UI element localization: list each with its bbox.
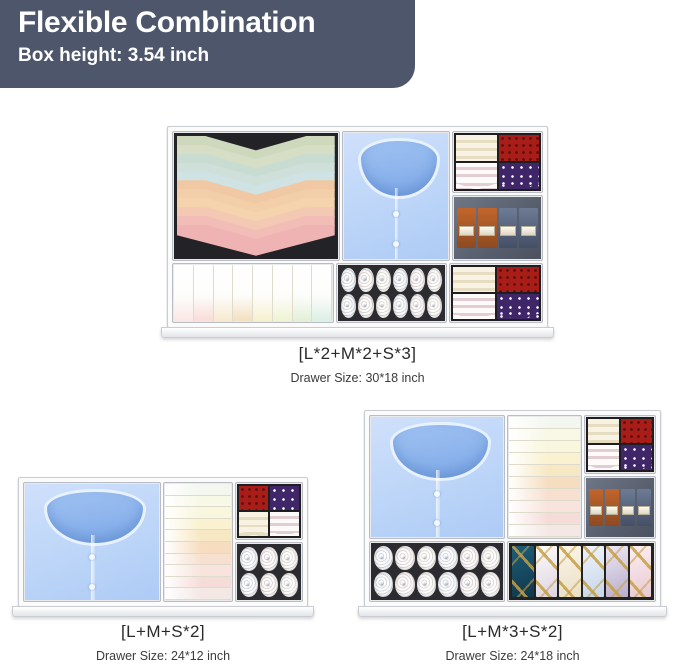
- rolled-sock: [395, 572, 414, 597]
- shirt-button: [393, 241, 399, 247]
- rolled-sock: [358, 268, 373, 292]
- rolled-sock: [417, 546, 436, 571]
- rolled-sock: [374, 572, 393, 597]
- silk-scarf: [630, 546, 651, 597]
- silk-scarf: [536, 546, 557, 597]
- compartment-rolled-socks: [337, 264, 446, 322]
- rolled-sock: [410, 268, 425, 292]
- folded-garment: [165, 554, 232, 566]
- folded-garment: [174, 265, 194, 321]
- folded-garment: [509, 513, 579, 525]
- tie-red-dotted: [497, 267, 539, 292]
- silk-scarf: [606, 546, 627, 597]
- compartment-rolled-socks: [370, 542, 504, 601]
- tie-cream-striped: [453, 267, 495, 292]
- rolled-sock: [374, 546, 393, 571]
- folded-garment: [214, 265, 234, 321]
- shirt-placket: [91, 535, 95, 600]
- folded-garment: [253, 265, 273, 321]
- rolled-sock: [427, 268, 442, 292]
- shirt-placket: [436, 470, 440, 537]
- shirt-button: [89, 554, 95, 560]
- header-banner: Flexible Combination Box height: 3.54 in…: [0, 0, 415, 88]
- compartment-ties: [450, 264, 542, 322]
- drawer-size: Drawer Size: 24*18 inch: [364, 649, 661, 663]
- rolled-sock: [376, 294, 391, 318]
- rolled-sock: [481, 572, 500, 597]
- tie-white-striped: [270, 512, 299, 536]
- rolled-sock: [280, 547, 298, 571]
- shirt-button: [89, 584, 95, 590]
- rolled-sock: [393, 268, 408, 292]
- folded-garment: [509, 441, 579, 453]
- drawer-bottom-right: [364, 410, 661, 617]
- belt-brown: [589, 489, 603, 527]
- folded-garment: [293, 265, 313, 321]
- folded-garment: [509, 453, 579, 465]
- compartment-folded-dress-shirt: [24, 483, 160, 601]
- shirt-placket: [395, 188, 398, 258]
- tie-purple-dotted: [270, 486, 299, 510]
- rolled-sock: [460, 546, 479, 571]
- rolled-sock: [460, 572, 479, 597]
- belt-brown: [478, 208, 497, 248]
- drawer-top: [167, 126, 548, 338]
- belt-navy: [499, 208, 518, 248]
- rolled-sock: [280, 573, 298, 597]
- belt-navy: [519, 208, 538, 248]
- tie-cream-striped: [588, 419, 619, 443]
- drawer-size: Drawer Size: 24*12 inch: [18, 649, 308, 663]
- drawer-lip: [12, 606, 314, 617]
- folded-garment: [194, 265, 214, 321]
- tie-purple-dotted: [499, 163, 539, 189]
- rolled-sock: [260, 547, 278, 571]
- folded-garment: [509, 417, 579, 429]
- shirt-button: [393, 211, 399, 217]
- shirt-collar: [358, 138, 439, 199]
- drawer-code: [L+M+S*2]: [18, 622, 308, 642]
- folded-garment: [509, 501, 579, 513]
- tie-purple-dotted: [497, 294, 539, 319]
- tie-white-striped: [453, 294, 495, 319]
- compartment-stacked-folded-garments: [164, 483, 233, 601]
- compartment-vertical-folded-garments: [173, 264, 333, 322]
- shirt-button: [434, 520, 440, 526]
- folded-garment: [509, 465, 579, 477]
- folded-garment: [165, 530, 232, 542]
- caption-drawer-bottom-right: [L+M*3+S*2] Drawer Size: 24*18 inch: [364, 622, 661, 663]
- folded-garment: [273, 265, 293, 321]
- folded-garment: [165, 577, 232, 589]
- tie-red-dotted: [499, 135, 539, 161]
- banner-subtitle: Box height: 3.54 inch: [18, 44, 415, 68]
- rolled-sock: [341, 294, 356, 318]
- rolled-sock: [240, 547, 258, 571]
- tie-cream-striped: [456, 135, 496, 161]
- rolled-sock: [438, 572, 457, 597]
- folded-garment: [165, 588, 232, 600]
- compartment-folded-shirts-stack: [173, 132, 339, 260]
- drawer-bottom-left: [18, 477, 308, 617]
- compartment-belts: [453, 196, 542, 260]
- belt-navy: [621, 489, 635, 527]
- compartment-ties: [585, 416, 655, 473]
- silk-scarf: [583, 546, 604, 597]
- rolled-sock: [481, 546, 500, 571]
- tie-cream-striped: [239, 512, 268, 536]
- compartment-stacked-folded-garments: [508, 416, 580, 538]
- compartment-rolled-socks: [236, 543, 302, 601]
- rolled-sock: [393, 294, 408, 318]
- compartment-silk-scarves: [508, 542, 655, 601]
- caption-drawer-bottom-left: [L+M+S*2] Drawer Size: 24*12 inch: [18, 622, 308, 663]
- folded-garment: [165, 565, 232, 577]
- rolled-sock: [438, 546, 457, 571]
- compartment-belts: [585, 477, 655, 538]
- belt-brown: [605, 489, 619, 527]
- rolled-sock: [427, 294, 442, 318]
- folded-garment: [509, 489, 579, 501]
- silk-scarf: [512, 546, 533, 597]
- rolled-sock: [376, 268, 391, 292]
- folded-garment: [233, 265, 253, 321]
- tie-purple-dotted: [621, 445, 652, 469]
- drawer-size: Drawer Size: 30*18 inch: [167, 371, 548, 385]
- belt-brown: [457, 208, 476, 248]
- rolled-sock: [395, 546, 414, 571]
- tie-white-striped: [456, 163, 496, 189]
- folded-garment: [165, 519, 232, 531]
- compartment-ties: [453, 132, 542, 192]
- shirt-collar: [44, 489, 146, 546]
- belt-navy: [637, 489, 651, 527]
- shirt-collar: [390, 422, 491, 481]
- folded-garment: [509, 429, 579, 441]
- drawer-lip: [161, 327, 554, 338]
- folded-garment: [312, 265, 332, 321]
- compartment-folded-dress-shirt: [370, 416, 504, 538]
- rolled-sock: [417, 572, 436, 597]
- silk-scarf: [559, 546, 580, 597]
- folded-garment: [509, 525, 579, 537]
- tie-red-dotted: [239, 486, 268, 510]
- folded-garment: [165, 484, 232, 496]
- tie-red-dotted: [621, 419, 652, 443]
- compartment-ties: [236, 483, 302, 539]
- rolled-sock: [260, 573, 278, 597]
- folded-garment: [509, 477, 579, 489]
- tie-white-striped: [588, 445, 619, 469]
- rolled-sock: [358, 294, 373, 318]
- folded-garment: [165, 507, 232, 519]
- compartment-folded-dress-shirt: [343, 132, 450, 260]
- drawer-lip: [358, 606, 667, 617]
- rolled-sock: [341, 268, 356, 292]
- banner-title: Flexible Combination: [18, 6, 415, 40]
- caption-drawer-top: [L*2+M*2+S*3] Drawer Size: 30*18 inch: [167, 344, 548, 385]
- rolled-sock: [240, 573, 258, 597]
- drawer-code: [L+M*3+S*2]: [364, 622, 661, 642]
- folded-garment: [165, 542, 232, 554]
- folded-garment: [165, 496, 232, 508]
- rolled-sock: [410, 294, 425, 318]
- drawer-code: [L*2+M*2+S*3]: [167, 344, 548, 364]
